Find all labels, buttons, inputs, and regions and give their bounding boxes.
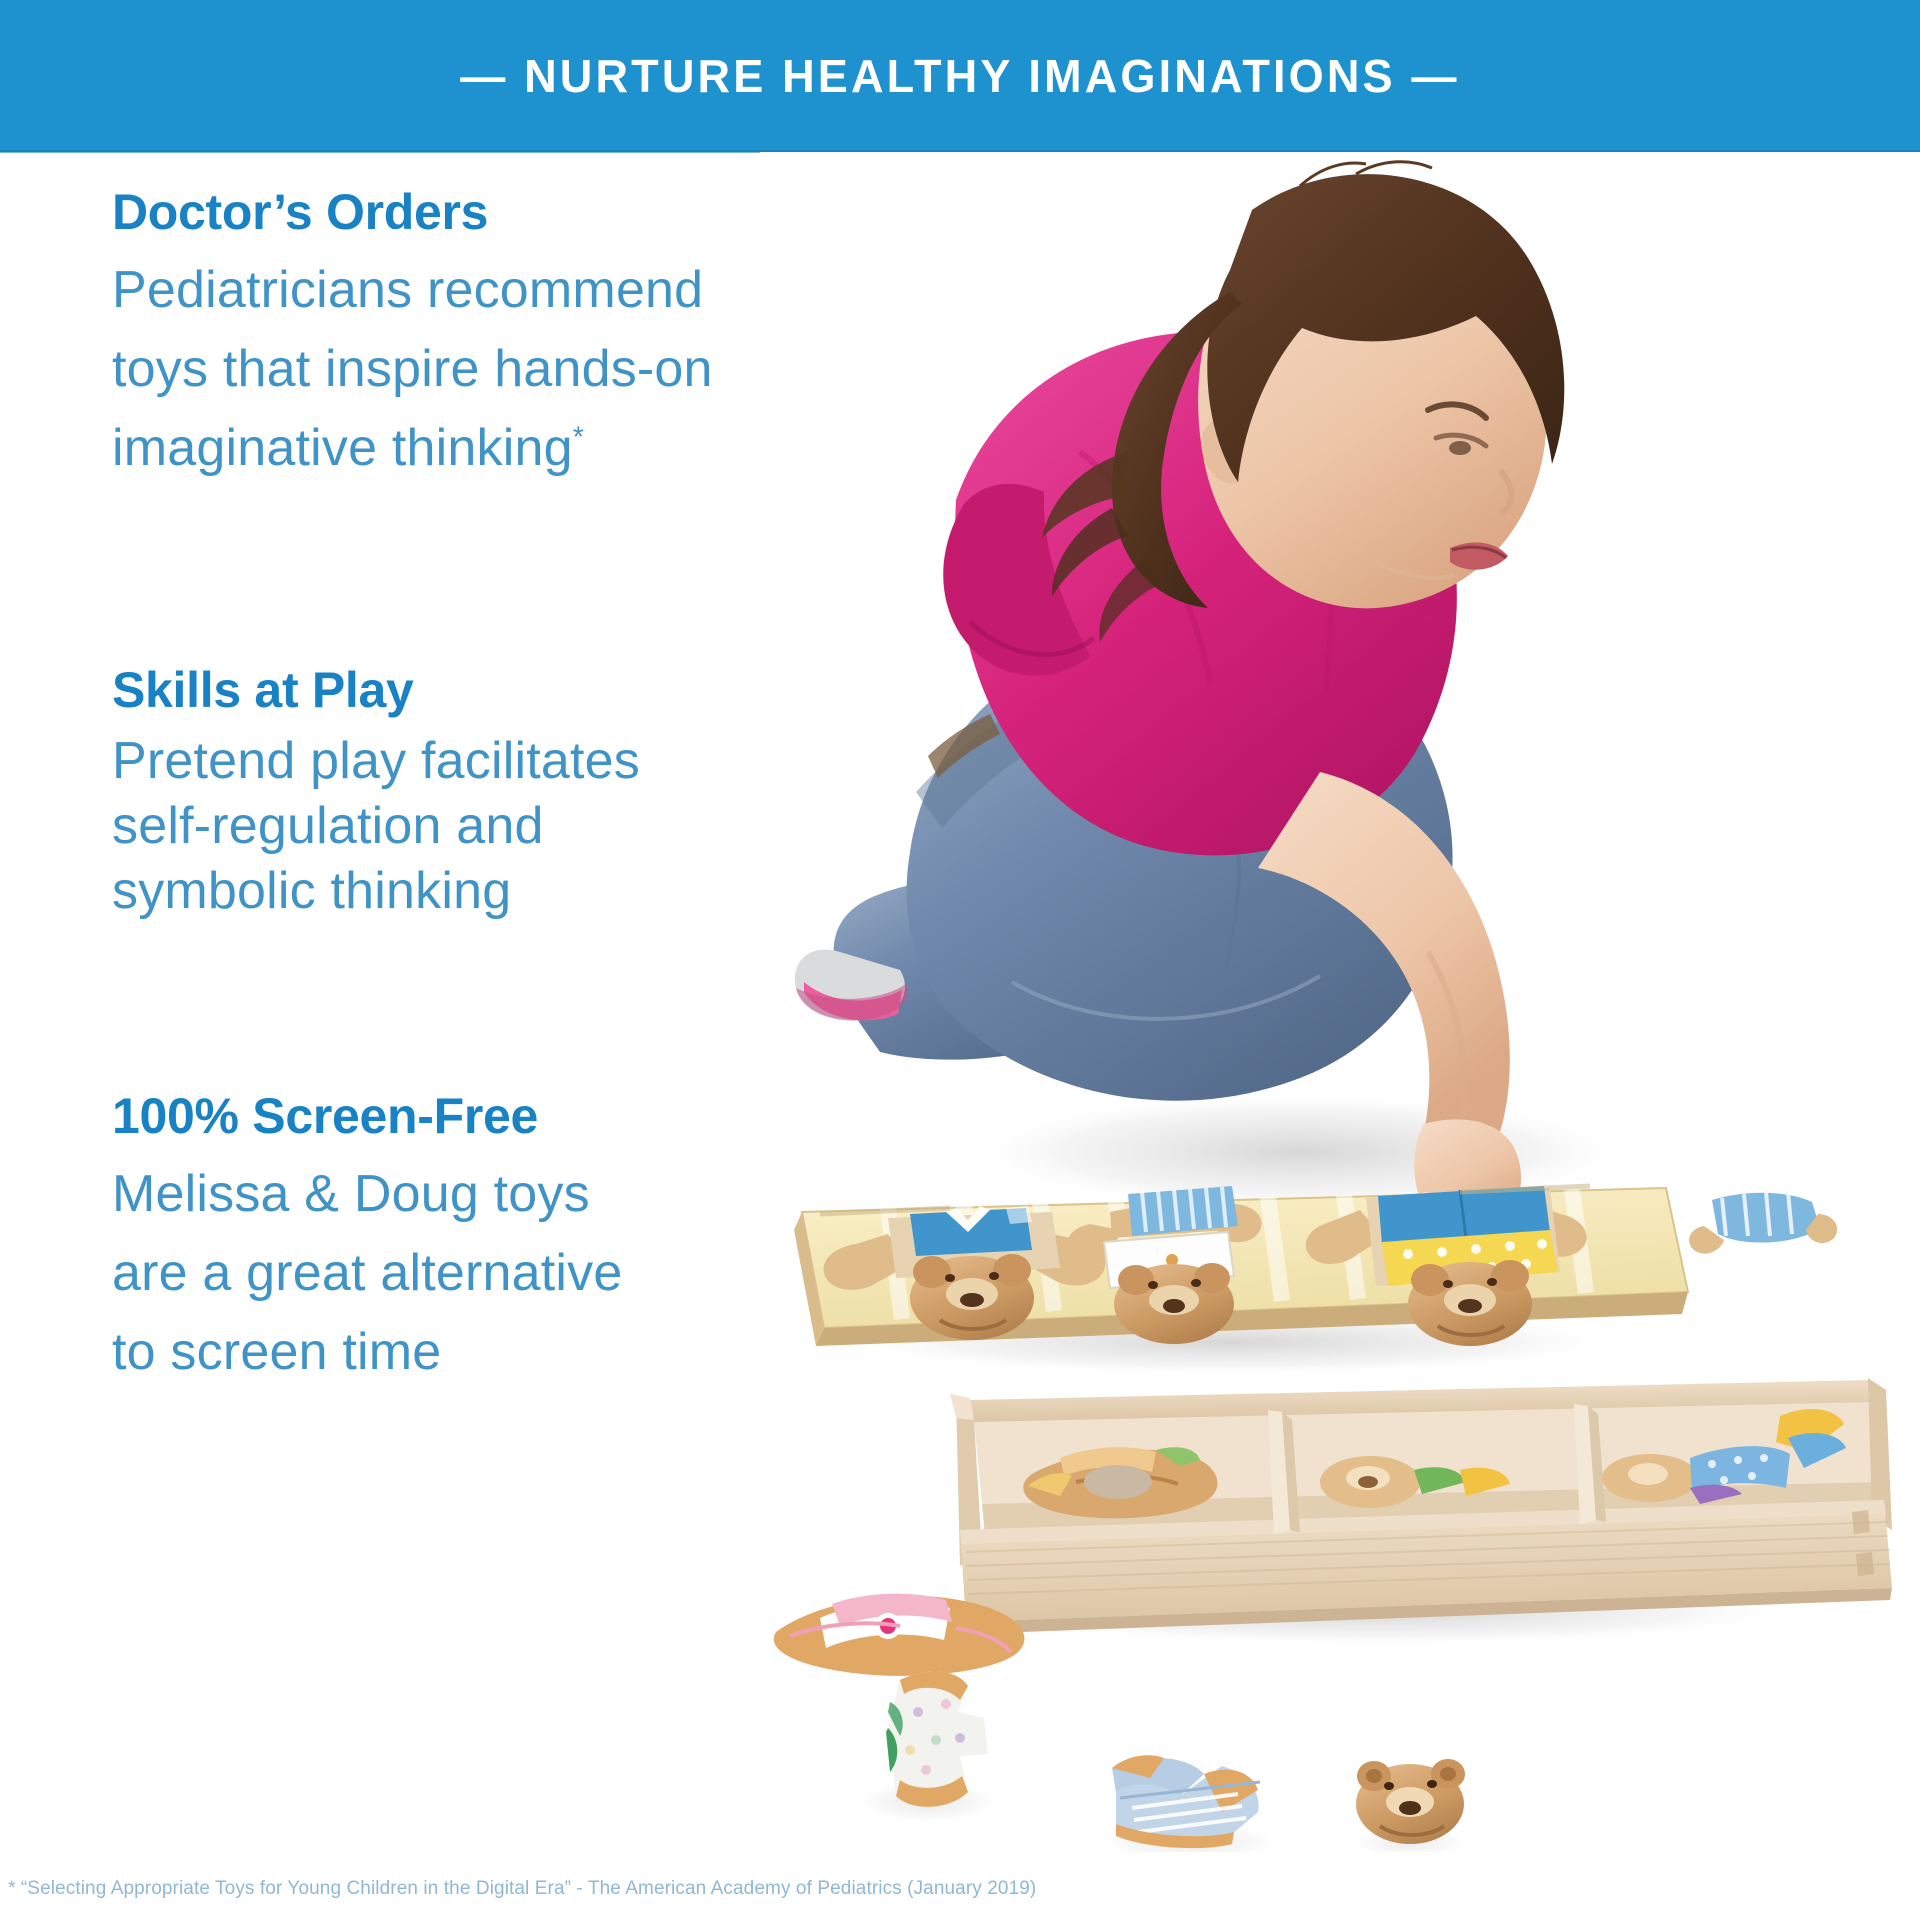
benefit-block-screen-free: 100% Screen-Free Melissa & Doug toys are… bbox=[112, 1090, 622, 1392]
benefit-body-line: Pediatricians recommend bbox=[112, 251, 713, 330]
top-banner: — NURTURE HEALTHY IMAGINATIONS — bbox=[0, 0, 1920, 152]
benefit-body-line: imaginative thinking* bbox=[112, 409, 713, 488]
puzzle-board bbox=[794, 1186, 1688, 1376]
product-photo bbox=[760, 152, 1920, 1852]
benefit-heading: Doctor’s Orders bbox=[112, 186, 713, 239]
benefit-body: Pediatricians recommend toys that inspir… bbox=[112, 251, 713, 488]
footnote-marker: * bbox=[573, 422, 584, 454]
infographic-page: — NURTURE HEALTHY IMAGINATIONS — bbox=[0, 0, 1920, 1920]
benefit-body: Pretend play facilitates self-regulation… bbox=[112, 729, 640, 924]
benefit-body-line: toys that inspire hands-on bbox=[112, 330, 713, 409]
benefit-body-line-text: imaginative thinking bbox=[112, 419, 573, 477]
footnote-citation: * “Selecting Appropriate Toys for Young … bbox=[8, 1878, 1608, 1900]
benefit-heading: Skills at Play bbox=[112, 664, 640, 717]
banner-title: — NURTURE HEALTHY IMAGINATIONS — bbox=[460, 49, 1459, 103]
storage-tray bbox=[950, 1378, 1892, 1646]
benefit-body-line: self-regulation and bbox=[112, 794, 640, 859]
benefit-block-skills-at-play: Skills at Play Pretend play facilitates … bbox=[112, 664, 640, 924]
benefit-heading: 100% Screen-Free bbox=[112, 1090, 622, 1143]
photo-svg bbox=[760, 152, 1920, 1852]
benefit-body-line: Melissa & Doug toys bbox=[112, 1155, 622, 1234]
benefit-body: Melissa & Doug toys are a great alternat… bbox=[112, 1155, 622, 1392]
benefit-body-line: symbolic thinking bbox=[112, 859, 640, 924]
benefit-block-doctors-orders: Doctor’s Orders Pediatricians recommend … bbox=[112, 186, 713, 488]
benefit-body-line: Pretend play facilitates bbox=[112, 729, 640, 794]
benefit-body-line: to screen time bbox=[112, 1313, 622, 1392]
benefit-body-line: are a great alternative bbox=[112, 1234, 622, 1313]
